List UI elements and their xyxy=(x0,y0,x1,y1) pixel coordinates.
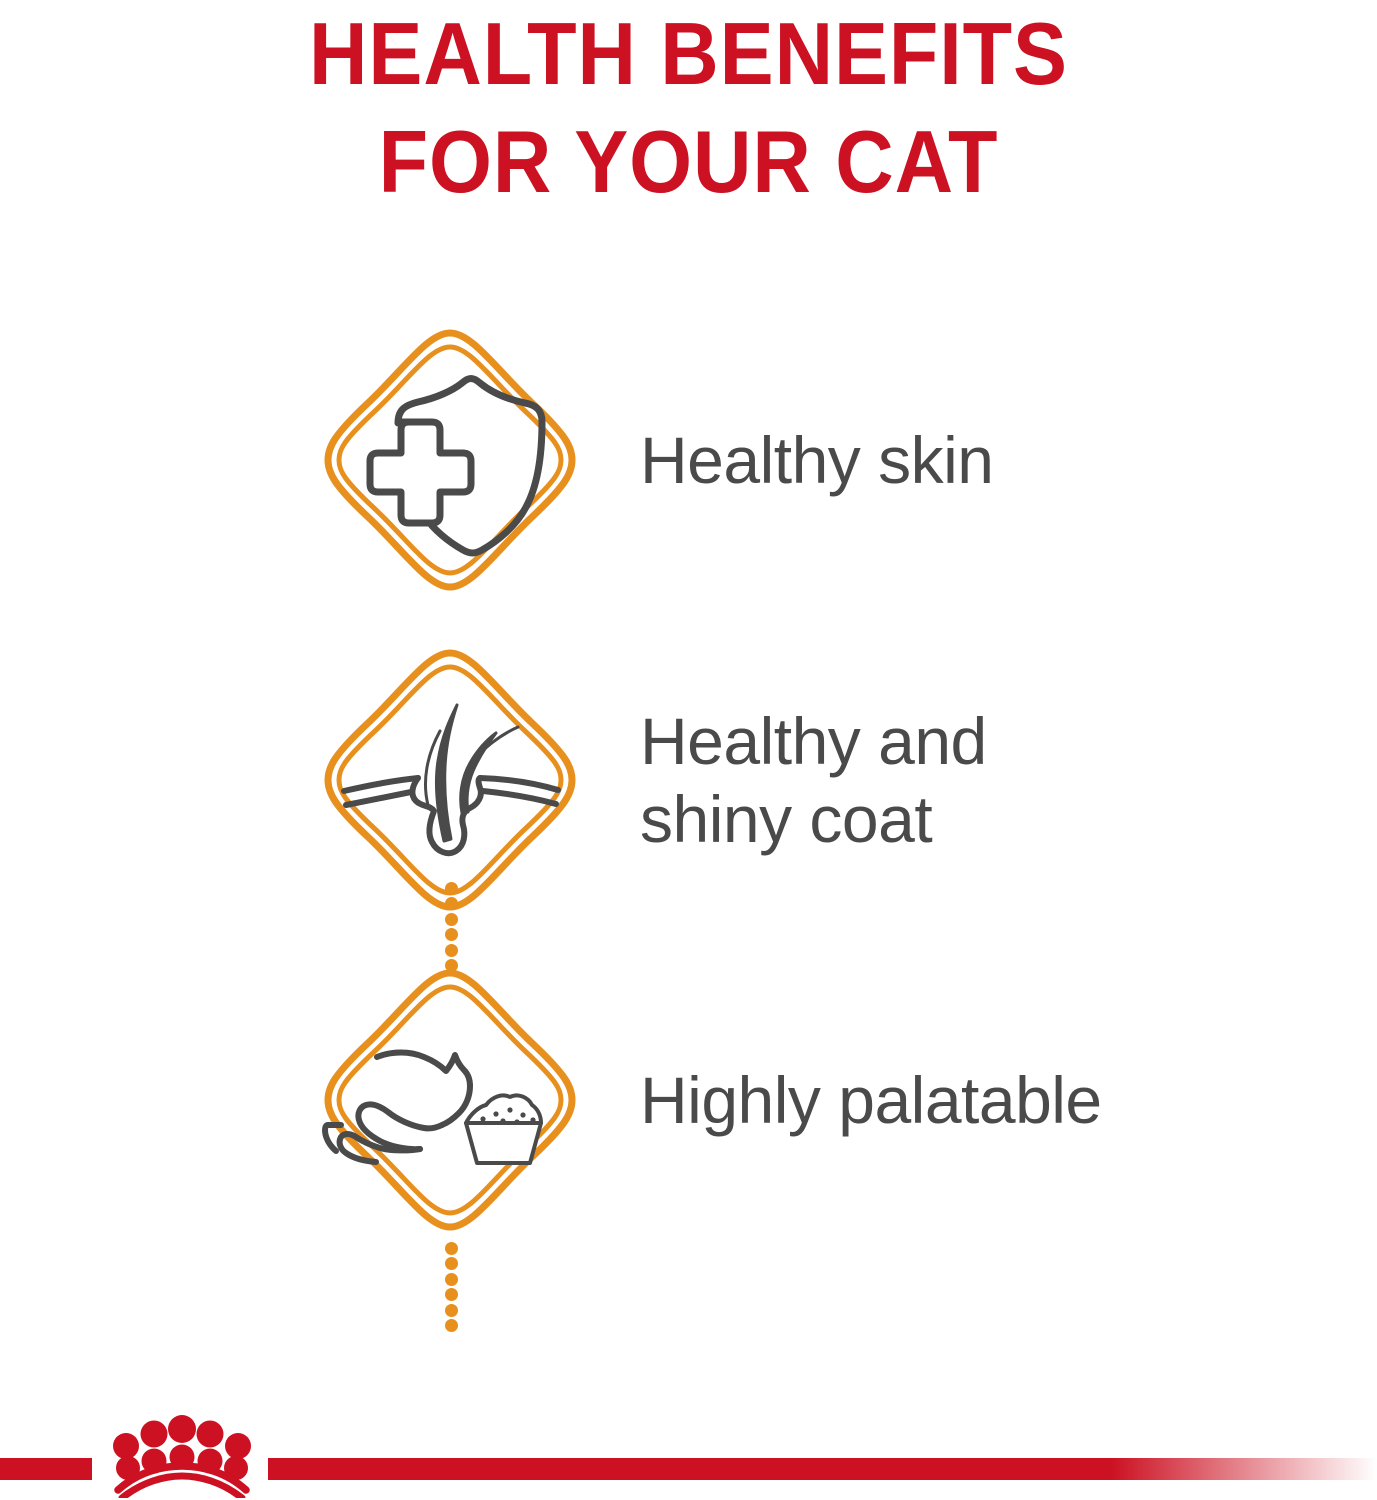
cat-eating-bowl-icon xyxy=(320,965,580,1235)
footer-bar-right xyxy=(268,1458,1377,1480)
connector-dot xyxy=(445,882,458,895)
benefit-item-highly-palatable: Highly palatable xyxy=(0,940,1377,1260)
connector-dot xyxy=(445,1273,458,1286)
connector-dot xyxy=(445,944,458,957)
benefit-label: Healthy skin xyxy=(640,421,994,499)
connector-dot xyxy=(445,897,458,910)
connector-dot xyxy=(445,1257,458,1270)
benefit-item-healthy-skin: Healthy skin xyxy=(0,300,1377,620)
connector-dot xyxy=(445,1288,458,1301)
connector-dot xyxy=(445,913,458,926)
connector-dot xyxy=(445,1242,458,1255)
royal-canin-crown-logo xyxy=(92,1410,272,1498)
benefit-item-healthy-shiny-coat: Healthy and shiny coat xyxy=(0,620,1377,940)
connector-dot xyxy=(445,928,458,941)
dotted-connector xyxy=(443,882,459,972)
hair-follicle-icon xyxy=(320,645,580,915)
benefit-label: Highly palatable xyxy=(640,1061,1102,1139)
connector-dot xyxy=(445,1304,458,1317)
page-title: HEALTH BENEFITS FOR YOUR CAT xyxy=(0,0,1377,216)
health-benefits-list: Healthy skin xyxy=(0,300,1377,1260)
shield-cross-icon xyxy=(320,325,580,595)
connector-dot xyxy=(445,1319,458,1332)
footer-bar-left xyxy=(0,1458,92,1480)
dotted-connector xyxy=(443,1242,459,1332)
benefit-label: Healthy and shiny coat xyxy=(640,702,987,858)
page-title-line-2: FOR YOUR CAT xyxy=(55,108,1322,216)
connector-dot xyxy=(445,959,458,972)
footer xyxy=(0,1400,1377,1500)
page-title-line-1: HEALTH BENEFITS xyxy=(55,0,1322,108)
